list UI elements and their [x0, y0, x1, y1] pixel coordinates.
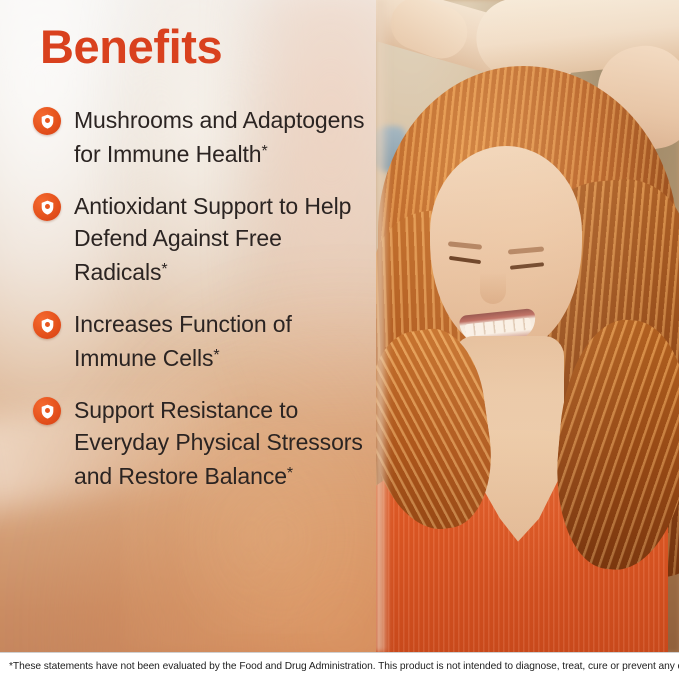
list-item: Mushrooms and Adaptogens for Immune Heal… [0, 104, 380, 170]
shield-icon [33, 311, 61, 339]
photo-color-grade [376, 0, 679, 652]
list-item: Antioxidant Support to Help Defend Again… [0, 190, 380, 288]
list-item: Support Resistance to Everyday Physical … [0, 394, 380, 492]
fda-disclaimer-text: *These statements have not been evaluate… [9, 661, 679, 672]
panel-content: Benefits Mushrooms and Adaptogens for Im… [0, 0, 380, 652]
asterisk-marker: * [262, 143, 268, 160]
shield-icon [33, 397, 61, 425]
lifestyle-photo [376, 0, 679, 652]
page-title: Benefits [40, 23, 222, 70]
list-item: Increases Function of Immune Cells* [0, 308, 380, 374]
shield-icon [33, 107, 61, 135]
list-item-label: Antioxidant Support to Help Defend Again… [74, 190, 374, 288]
asterisk-marker: * [161, 261, 167, 278]
disclaimer-bar: *These statements have not been evaluate… [0, 652, 679, 679]
list-item-label: Increases Function of Immune Cells* [74, 308, 374, 374]
asterisk-marker: * [287, 465, 293, 482]
list-item-label: Support Resistance to Everyday Physical … [74, 394, 374, 492]
shield-icon [33, 193, 61, 221]
product-benefits-infographic: Benefits Mushrooms and Adaptogens for Im… [0, 0, 679, 679]
asterisk-marker: * [213, 347, 219, 364]
benefits-list: Mushrooms and Adaptogens for Immune Heal… [0, 104, 380, 512]
list-item-label: Mushrooms and Adaptogens for Immune Heal… [74, 104, 374, 170]
photo-seam-blend [376, 0, 390, 652]
